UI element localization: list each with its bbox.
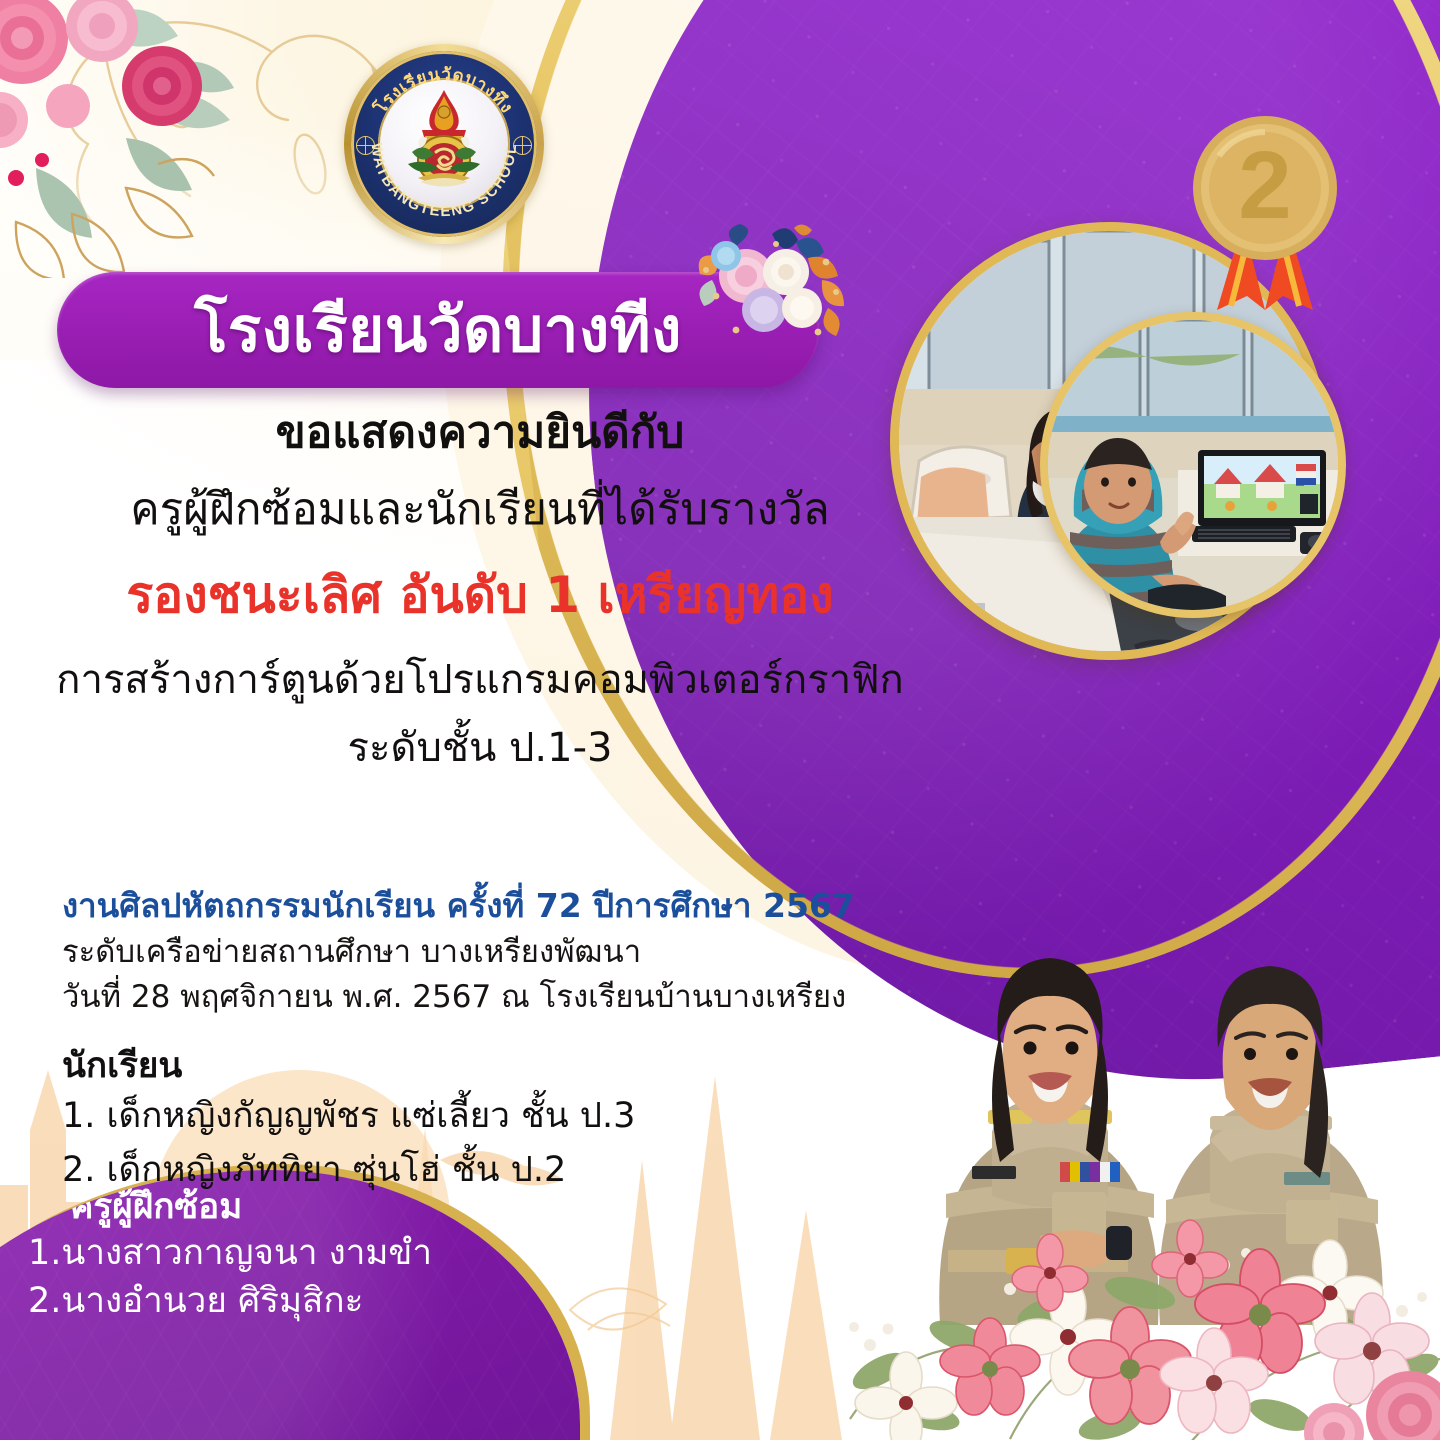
event-details-block: งานศิลปหัตถกรรมนักเรียน ครั้งที่ 72 ปีกา… [62,885,855,1019]
poster-canvas: โรงเรียนวัดบางทึง WATBANGTEENG SCHOOL [0,0,1440,1440]
student-list-item: 1. เด็กหญิงกัญญพัชร แซ่เลี้ยว ชั้น ป.3 [62,1093,635,1141]
recipients-line: ครูผู้ฝึกซ้อมและนักเรียนที่ได้รับรางวัล [0,482,960,537]
teacher-list-item: 1.นางสาวกาญจนา งามขำ [28,1232,432,1276]
level-line: ระดับชั้น ป.1-3 [0,723,960,773]
gold-medal-icon: 2 [1185,110,1345,315]
pink-roses-icon [0,0,316,278]
category-line: การสร้างการ์ตูนด้วยโปรแกรมคอมพิวเตอร์กรา… [0,655,960,705]
event-scope: ระดับเครือข่ายสถานศึกษา บางเหรียงพัฒนา [62,932,855,974]
main-text-block: ขอแสดงความยินดีกับ ครูผู้ฝึกซ้อมและนักเร… [0,405,960,773]
students-block: นักเรียน 1. เด็กหญิงกัญญพัชร แซ่เลี้ยว ช… [62,1045,635,1194]
teachers-block: ครูผู้ฝึกซ้อม 1.นางสาวกาญจนา งามขำ 2.นาง… [0,1170,580,1440]
school-name-banner: โรงเรียนวัดบางทีง [57,272,819,388]
event-title: งานศิลปหัตถกรรมนักเรียน ครั้งที่ 72 ปีกา… [62,885,855,928]
teachers-purple-blob: ครูผู้ฝึกซ้อม 1.นางสาวกาญจนา งามขำ 2.นาง… [0,1170,580,1440]
students-heading: นักเรียน [62,1045,635,1087]
globe-icon-left [356,136,375,155]
globe-icon-right [513,136,532,155]
school-seal-icon [378,78,510,210]
student-photo-child-at-computer [1040,312,1346,618]
school-name-text: โรงเรียนวัดบางทีง [194,299,682,361]
school-logo: โรงเรียนวัดบางทึง WATBANGTEENG SCHOOL [344,44,544,244]
student-list-item: 2. เด็กหญิงภัททิยา ซุ่นโฮ่ ชั้น ป.2 [62,1147,635,1195]
teachers-photo [910,780,1440,1325]
award-line: รองชนะเลิศ อันดับ 1 เหรียญทอง [0,565,960,625]
teacher-list-item: 2.นางอำนวย ศิริมุสิกะ [28,1280,363,1324]
svg-text:2: 2 [1238,132,1291,239]
congrats-line: ขอแสดงความยินดีกับ [0,405,960,460]
event-date-place: วันที่ 28 พฤศจิกายน พ.ศ. 2567 ณ โรงเรียน… [62,977,855,1019]
logo-inner-disc [378,78,510,210]
